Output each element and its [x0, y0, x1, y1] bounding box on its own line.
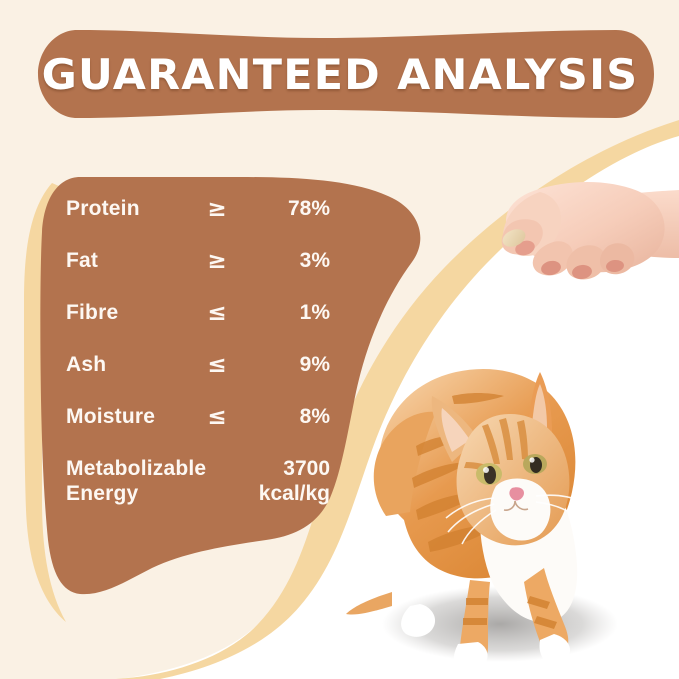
energy-label: Metabolizable Energy [66, 456, 216, 506]
comparison-symbol: ≥ [200, 196, 234, 222]
nutrient-label: Ash [66, 352, 106, 378]
comparison-symbol: ≤ [200, 352, 234, 378]
table-row: Fibre ≤ 1% [66, 300, 330, 352]
nutrient-value: 78% [288, 196, 330, 222]
comparison-symbol: ≤ [200, 300, 234, 326]
nutrient-label: Fat [66, 248, 98, 274]
table-row: Ash ≤ 9% [66, 352, 330, 404]
nutrient-label: Fibre [66, 300, 118, 326]
cat-eye-right-glint [529, 457, 534, 462]
energy-value: 3700 kcal/kg [259, 456, 330, 506]
nutrient-value: 9% [300, 352, 330, 378]
nutrient-value: 8% [300, 404, 330, 430]
comparison-symbol: ≤ [200, 404, 234, 430]
nutrient-value: 1% [300, 300, 330, 326]
cat-eye-left-glint [483, 467, 489, 473]
table-row: Protein ≥ 78% [66, 196, 330, 248]
table-row: Moisture ≤ 8% [66, 404, 330, 456]
title-banner [38, 30, 654, 118]
energy-value-number: 3700 [283, 457, 330, 480]
product-label-graphic: GUARANTEED ANALYSIS Protein ≥ 78% Fat ≥ … [0, 0, 679, 679]
nutrient-value: 3% [300, 248, 330, 274]
nutrient-label: Moisture [66, 404, 155, 430]
guaranteed-analysis-table: Protein ≥ 78% Fat ≥ 3% Fibre ≤ 1% Ash ≤ … [66, 196, 330, 520]
nutrient-label: Protein [66, 196, 140, 222]
table-row-energy: Metabolizable Energy 3700 kcal/kg [66, 456, 330, 520]
table-row: Fat ≥ 3% [66, 248, 330, 300]
energy-value-unit: kcal/kg [259, 482, 330, 505]
cat-muzzle [490, 479, 550, 541]
comparison-symbol: ≥ [200, 248, 234, 274]
